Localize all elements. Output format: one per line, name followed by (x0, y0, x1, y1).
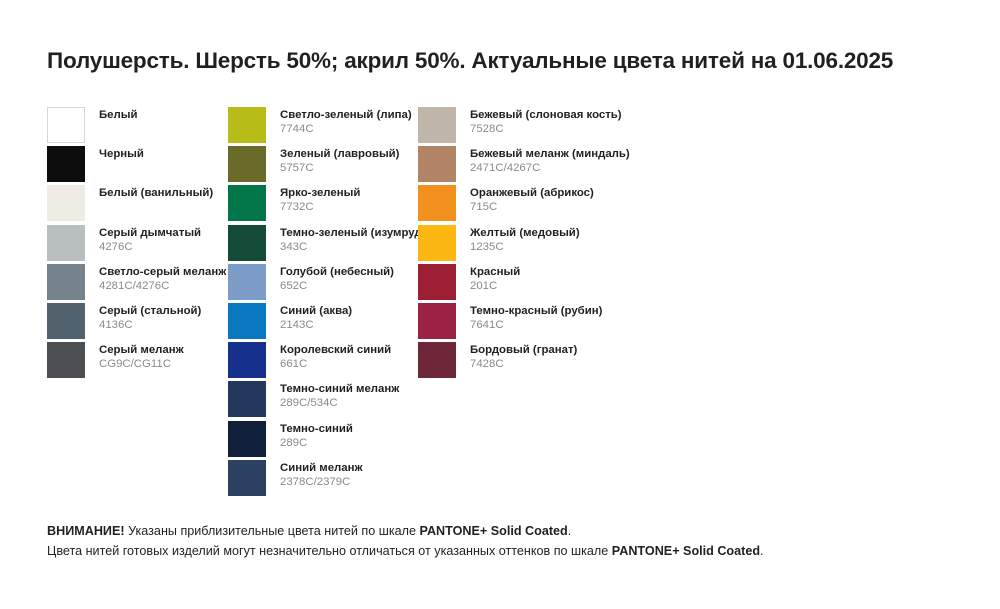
color-swatch (418, 342, 456, 378)
swatch-text: Темно-зеленый (изумруд)343C (266, 225, 425, 254)
swatch-columns: БелыйЧерныйБелый (ванильный)Серый дымчат… (47, 107, 957, 499)
swatch-name: Темно-синий меланж (280, 382, 399, 396)
color-swatch (418, 225, 456, 261)
color-swatch (47, 342, 85, 378)
swatch-name: Серый дымчатый (99, 226, 201, 240)
swatch-name: Светло-зеленый (липа) (280, 108, 412, 122)
swatch-name: Зеленый (лавровый) (280, 147, 399, 161)
footer-attention-label: ВНИМАНИЕ! (47, 524, 125, 538)
color-swatch (47, 107, 85, 143)
swatch-column-2: Светло-зеленый (липа)7744CЗеленый (лавро… (228, 107, 418, 499)
swatch-row: Голубой (небесный)652C (228, 264, 418, 303)
swatch-text: Серый меланжCG9C/CG11C (85, 342, 184, 371)
swatch-pantone-code: CG9C/CG11C (99, 357, 184, 371)
swatch-pantone-code: 7528C (470, 122, 622, 136)
swatch-name: Красный (470, 265, 520, 279)
color-swatch (47, 185, 85, 221)
swatch-pantone-code: 2378C/2379C (280, 475, 363, 489)
swatch-row: Бежевый меланж (миндаль)2471C/4267C (418, 146, 718, 185)
swatch-row: Темно-зеленый (изумруд)343C (228, 225, 418, 264)
swatch-name: Серый (стальной) (99, 304, 201, 318)
swatch-row: Черный (47, 146, 228, 185)
color-swatch (228, 146, 266, 182)
swatch-text: Ярко-зеленый7732C (266, 185, 360, 214)
swatch-text: Зеленый (лавровый)5757C (266, 146, 399, 175)
swatch-name: Королевский синий (280, 343, 391, 357)
color-swatch (47, 303, 85, 339)
color-swatch (228, 185, 266, 221)
swatch-row: Ярко-зеленый7732C (228, 185, 418, 224)
swatch-row: Темно-синий289C (228, 421, 418, 460)
swatch-row: Синий меланж2378C/2379C (228, 460, 418, 499)
swatch-text: Белый (ванильный) (85, 185, 213, 200)
page-title: Полушерсть. Шерсть 50%; акрил 50%. Актуа… (47, 48, 893, 74)
color-swatch (47, 146, 85, 182)
swatch-name: Белый (ванильный) (99, 186, 213, 200)
footer-line-1-text: Указаны приблизительные цвета нитей по ш… (125, 524, 420, 538)
swatch-column-1: БелыйЧерныйБелый (ванильный)Серый дымчат… (47, 107, 228, 381)
swatch-text: Голубой (небесный)652C (266, 264, 394, 293)
swatch-row: Светло-серый меланж4281C/4276C (47, 264, 228, 303)
swatch-row: Оранжевый (абрикос)715C (418, 185, 718, 224)
swatch-name: Светло-серый меланж (99, 265, 226, 279)
swatch-name: Черный (99, 147, 144, 161)
swatch-text: Серый (стальной)4136C (85, 303, 201, 332)
color-swatch (228, 421, 266, 457)
color-swatch (418, 107, 456, 143)
swatch-pantone-code: 4276C (99, 240, 201, 254)
footer-line-2-text: Цвета нитей готовых изделий могут незнач… (47, 544, 612, 558)
color-swatch (228, 342, 266, 378)
color-swatch (228, 107, 266, 143)
color-chart-page: Полушерсть. Шерсть 50%; акрил 50%. Актуа… (0, 0, 1000, 609)
swatch-row: Серый (стальной)4136C (47, 303, 228, 342)
footer-line-2: Цвета нитей готовых изделий могут незнач… (47, 542, 952, 562)
swatch-pantone-code: 7744C (280, 122, 412, 136)
swatch-text: Светло-серый меланж4281C/4276C (85, 264, 226, 293)
color-swatch (47, 225, 85, 261)
color-swatch (418, 146, 456, 182)
footer-notice: ВНИМАНИЕ! Указаны приблизительные цвета … (47, 522, 952, 561)
swatch-text: Бордовый (гранат)7428C (456, 342, 577, 371)
footer-line-1-period: . (568, 524, 572, 538)
swatch-pantone-code: 7428C (470, 357, 577, 371)
swatch-pantone-code: 289C (280, 436, 353, 450)
swatch-name: Оранжевый (абрикос) (470, 186, 594, 200)
swatch-pantone-code: 7641C (470, 318, 602, 332)
swatch-pantone-code: 7732C (280, 200, 360, 214)
swatch-text: Желтый (медовый)1235C (456, 225, 580, 254)
swatch-pantone-code: 343C (280, 240, 425, 254)
swatch-pantone-code: 2471C/4267C (470, 161, 630, 175)
footer-line-2-period: . (760, 544, 764, 558)
swatch-row: Бежевый (слоновая кость)7528C (418, 107, 718, 146)
color-swatch (228, 460, 266, 496)
color-swatch (228, 264, 266, 300)
swatch-text: Темно-красный (рубин)7641C (456, 303, 602, 332)
color-swatch (418, 303, 456, 339)
swatch-pantone-code: 289C/534C (280, 396, 399, 410)
color-swatch (228, 303, 266, 339)
swatch-pantone-code: 2143C (280, 318, 352, 332)
footer-line-2-scale: PANTONE+ Solid Coated (612, 544, 760, 558)
swatch-name: Белый (99, 108, 138, 122)
swatch-pantone-code: 5757C (280, 161, 399, 175)
swatch-name: Синий меланж (280, 461, 363, 475)
swatch-text: Бежевый (слоновая кость)7528C (456, 107, 622, 136)
swatch-pantone-code: 4136C (99, 318, 201, 332)
swatch-row: Зеленый (лавровый)5757C (228, 146, 418, 185)
swatch-text: Белый (85, 107, 138, 122)
swatch-name: Бежевый меланж (миндаль) (470, 147, 630, 161)
swatch-text: Синий (аква)2143C (266, 303, 352, 332)
swatch-text: Королевский синий661C (266, 342, 391, 371)
swatch-row: Белый (47, 107, 228, 146)
swatch-row: Темно-синий меланж289C/534C (228, 381, 418, 420)
swatch-pantone-code: 1235C (470, 240, 580, 254)
swatch-row: Бордовый (гранат)7428C (418, 342, 718, 381)
swatch-pantone-code: 661C (280, 357, 391, 371)
swatch-name: Темно-синий (280, 422, 353, 436)
swatch-name: Темно-красный (рубин) (470, 304, 602, 318)
swatch-name: Серый меланж (99, 343, 184, 357)
swatch-text: Оранжевый (абрикос)715C (456, 185, 594, 214)
swatch-pantone-code: 201C (470, 279, 520, 293)
swatch-text: Черный (85, 146, 144, 161)
color-swatch (47, 264, 85, 300)
swatch-row: Красный201C (418, 264, 718, 303)
color-swatch (418, 185, 456, 221)
footer-line-1-scale: PANTONE+ Solid Coated (419, 524, 567, 538)
swatch-row: Серый меланжCG9C/CG11C (47, 342, 228, 381)
swatch-pantone-code: 4281C/4276C (99, 279, 226, 293)
swatch-text: Светло-зеленый (липа)7744C (266, 107, 412, 136)
swatch-name: Голубой (небесный) (280, 265, 394, 279)
footer-line-1: ВНИМАНИЕ! Указаны приблизительные цвета … (47, 522, 952, 542)
swatch-row: Светло-зеленый (липа)7744C (228, 107, 418, 146)
swatch-text: Темно-синий289C (266, 421, 353, 450)
swatch-text: Темно-синий меланж289C/534C (266, 381, 399, 410)
swatch-column-3: Бежевый (слоновая кость)7528CБежевый мел… (418, 107, 718, 381)
swatch-row: Темно-красный (рубин)7641C (418, 303, 718, 342)
color-swatch (418, 264, 456, 300)
swatch-name: Темно-зеленый (изумруд) (280, 226, 425, 240)
color-swatch (228, 225, 266, 261)
color-swatch (228, 381, 266, 417)
swatch-row: Желтый (медовый)1235C (418, 225, 718, 264)
swatch-pantone-code: 652C (280, 279, 394, 293)
swatch-row: Белый (ванильный) (47, 185, 228, 224)
swatch-pantone-code: 715C (470, 200, 594, 214)
swatch-name: Ярко-зеленый (280, 186, 360, 200)
swatch-row: Синий (аква)2143C (228, 303, 418, 342)
swatch-text: Синий меланж2378C/2379C (266, 460, 363, 489)
swatch-text: Красный201C (456, 264, 520, 293)
swatch-name: Желтый (медовый) (470, 226, 580, 240)
swatch-name: Бордовый (гранат) (470, 343, 577, 357)
swatch-row: Серый дымчатый4276C (47, 225, 228, 264)
swatch-row: Королевский синий661C (228, 342, 418, 381)
swatch-name: Бежевый (слоновая кость) (470, 108, 622, 122)
swatch-text: Серый дымчатый4276C (85, 225, 201, 254)
swatch-name: Синий (аква) (280, 304, 352, 318)
swatch-text: Бежевый меланж (миндаль)2471C/4267C (456, 146, 630, 175)
